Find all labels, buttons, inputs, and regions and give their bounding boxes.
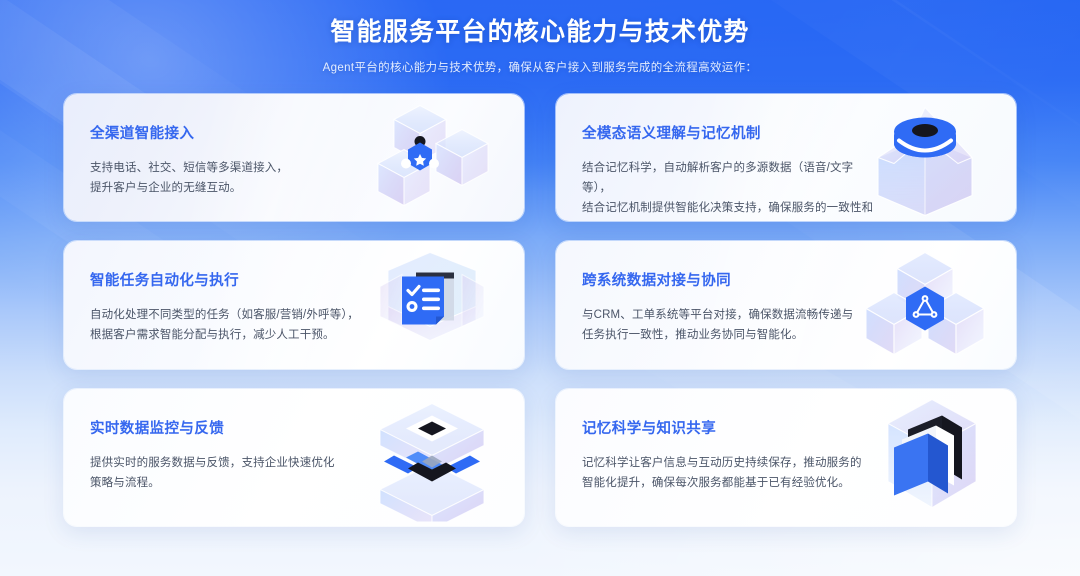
card-description: 记忆科学让客户信息与互动历史持续保存，推动服务的 智能化提升，确保每次服务都能基… bbox=[582, 453, 912, 493]
card-description: 自动化处理不同类型的任务（如客服/营销/外呼等）， 根据客户需求智能分配与执行，… bbox=[90, 305, 420, 345]
card-title: 记忆科学与知识共享 bbox=[582, 417, 912, 438]
presentation-slide: 智能服务平台的核心能力与技术优势 Agent平台的核心能力与技术优势，确保从客户… bbox=[0, 0, 1080, 576]
feature-card-cross-system-integration[interactable]: 跨系统数据对接与协同 与CRM、工单系统等平台对接，确保数据流畅传递与 任务执行… bbox=[555, 240, 1017, 370]
page-subtitle: Agent平台的核心能力与技术优势，确保从客户接入到服务完成的全流程高效运作： bbox=[0, 59, 1080, 75]
card-title: 全渠道智能接入 bbox=[90, 122, 420, 143]
feature-card-grid: 全渠道智能接入 支持电话、社交、短信等多渠道接入， 提升客户与企业的无缝互动。 bbox=[63, 93, 1017, 527]
feature-card-multimodal-semantic-memory[interactable]: 全模态语义理解与记忆机制 结合记忆科学，自动解析客户的多源数据（语音/文字 等）… bbox=[555, 93, 1017, 222]
card-description: 提供实时的服务数据与反馈，支持企业快速优化 策略与流程。 bbox=[90, 453, 420, 493]
card-title: 跨系统数据对接与协同 bbox=[582, 269, 912, 290]
card-description: 支持电话、社交、短信等多渠道接入， 提升客户与企业的无缝互动。 bbox=[90, 158, 420, 198]
card-body: 智能任务自动化与执行 自动化处理不同类型的任务（如客服/营销/外呼等）， 根据客… bbox=[90, 269, 420, 345]
card-title: 实时数据监控与反馈 bbox=[90, 417, 420, 438]
feature-card-task-automation[interactable]: 智能任务自动化与执行 自动化处理不同类型的任务（如客服/营销/外呼等）， 根据客… bbox=[63, 240, 525, 370]
card-description: 结合记忆科学，自动解析客户的多源数据（语音/文字 等）， 结合记忆机制提供智能化… bbox=[582, 158, 912, 222]
card-body: 记忆科学与知识共享 记忆科学让客户信息与互动历史持续保存，推动服务的 智能化提升… bbox=[582, 417, 912, 493]
feature-card-realtime-monitoring[interactable]: 实时数据监控与反馈 提供实时的服务数据与反馈，支持企业快速优化 策略与流程。 bbox=[63, 388, 525, 527]
feature-card-omni-channel-access[interactable]: 全渠道智能接入 支持电话、社交、短信等多渠道接入， 提升客户与企业的无缝互动。 bbox=[63, 93, 525, 222]
card-title: 全模态语义理解与记忆机制 bbox=[582, 122, 912, 143]
card-title: 智能任务自动化与执行 bbox=[90, 269, 420, 290]
card-description: 与CRM、工单系统等平台对接，确保数据流畅传递与 任务执行一致性，推动业务协同与… bbox=[582, 305, 912, 345]
card-body: 全渠道智能接入 支持电话、社交、短信等多渠道接入， 提升客户与企业的无缝互动。 bbox=[90, 122, 420, 198]
card-body: 跨系统数据对接与协同 与CRM、工单系统等平台对接，确保数据流畅传递与 任务执行… bbox=[582, 269, 912, 345]
feature-card-memory-science-knowledge[interactable]: 记忆科学与知识共享 记忆科学让客户信息与互动历史持续保存，推动服务的 智能化提升… bbox=[555, 388, 1017, 527]
slide-header: 智能服务平台的核心能力与技术优势 Agent平台的核心能力与技术优势，确保从客户… bbox=[0, 12, 1080, 75]
card-body: 全模态语义理解与记忆机制 结合记忆科学，自动解析客户的多源数据（语音/文字 等）… bbox=[582, 122, 912, 222]
page-title: 智能服务平台的核心能力与技术优势 bbox=[0, 12, 1080, 48]
card-body: 实时数据监控与反馈 提供实时的服务数据与反馈，支持企业快速优化 策略与流程。 bbox=[90, 417, 420, 493]
